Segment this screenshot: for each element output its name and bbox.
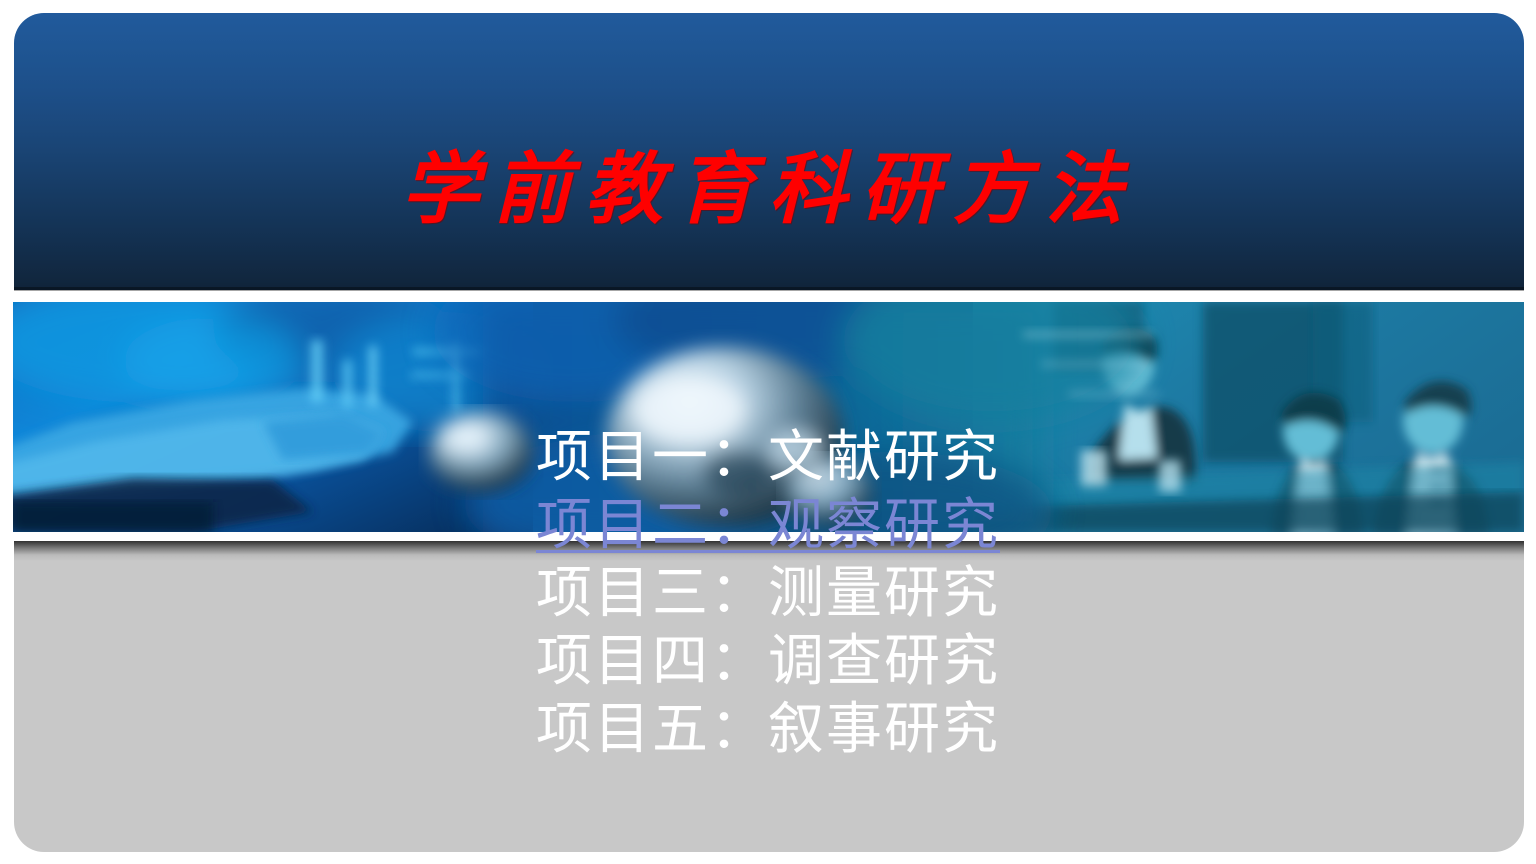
project-item-4: 项目四：调查研究 bbox=[0, 628, 1536, 696]
page-title: 学前教育科研方法 bbox=[14, 145, 1524, 235]
slide: 学前教育科研方法 bbox=[0, 0, 1536, 864]
project-item-1: 项目一：文献研究 bbox=[0, 424, 1536, 492]
project-list: 项目一：文献研究 项目二：观察研究 项目三：测量研究 项目四：调查研究 项目五：… bbox=[0, 424, 1536, 764]
project-item-3: 项目三：测量研究 bbox=[0, 560, 1536, 628]
project-item-2-link[interactable]: 项目二：观察研究 bbox=[0, 492, 1536, 560]
title-banner: 学前教育科研方法 bbox=[14, 13, 1524, 290]
project-item-5: 项目五：叙事研究 bbox=[0, 696, 1536, 764]
